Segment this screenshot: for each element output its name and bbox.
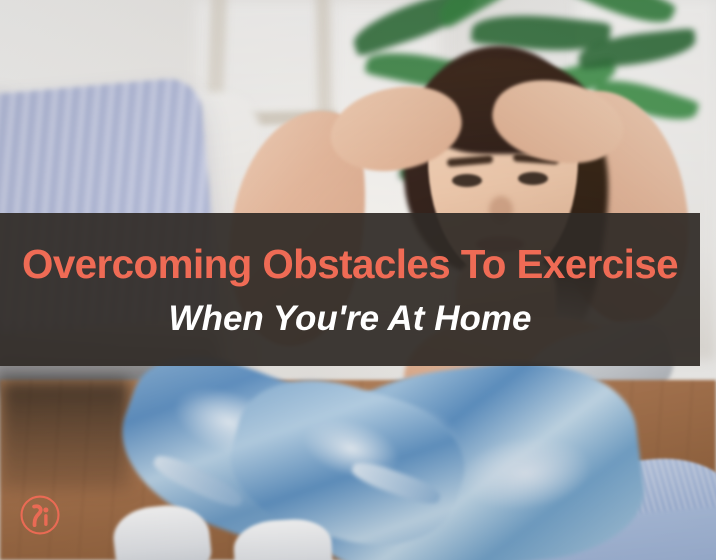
headline-text: Overcoming Obstacles To Exercise [22,244,678,285]
eye-left [452,174,482,187]
featured-image-card: Overcoming Obstacles To Exercise When Yo… [0,0,716,560]
subheadline-text: When You're At Home [169,301,532,336]
floor-shadow-left [0,380,130,490]
brand-logo-icon[interactable] [19,494,61,536]
eye-right [518,172,548,185]
title-overlay-band: Overcoming Obstacles To Exercise When Yo… [0,213,700,366]
